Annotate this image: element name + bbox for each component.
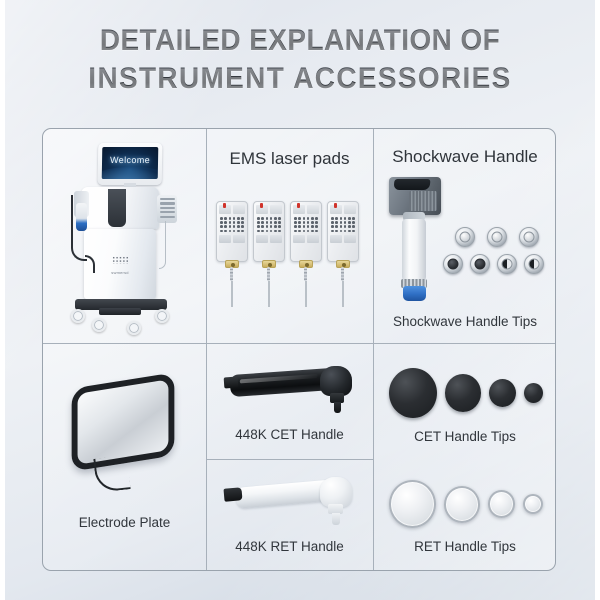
cell-shockwave-handle: Shockwave Handle bbox=[373, 129, 556, 343]
ems-pad-top-bar bbox=[330, 205, 356, 214]
cet-tip bbox=[524, 383, 543, 403]
ems-pad-cable-strain bbox=[304, 267, 307, 281]
shockwave-heading: Shockwave Handle bbox=[373, 147, 556, 167]
ems-pad-bottom-segment bbox=[307, 235, 319, 243]
ems-pad-laser-grid bbox=[293, 216, 319, 233]
ems-pad-bottom-segment bbox=[233, 235, 245, 243]
ret-handle-head bbox=[320, 477, 352, 507]
machine-caster bbox=[155, 309, 169, 323]
logo-dots-icon bbox=[112, 256, 129, 264]
machine-illustration: Welcome swmersd bbox=[69, 143, 181, 335]
ems-pad-top-segment bbox=[344, 205, 356, 214]
ems-pad-bottom-segment bbox=[256, 235, 268, 243]
shockwave-tip bbox=[524, 254, 544, 274]
cet-tip bbox=[445, 374, 481, 412]
screen-welcome-text: Welcome bbox=[102, 155, 158, 165]
ems-pad-wire bbox=[305, 281, 307, 307]
keypad-row bbox=[160, 202, 175, 204]
ems-pad-body bbox=[327, 201, 359, 262]
cet-handle-illustration bbox=[224, 361, 356, 419]
shockwave-tip bbox=[443, 254, 463, 274]
ret-tips-group bbox=[389, 477, 543, 531]
ems-pad-bottom-bar bbox=[330, 235, 356, 243]
ems-pad-body bbox=[216, 201, 248, 262]
machine-center-slot bbox=[108, 189, 126, 227]
ems-pad-bottom-segment bbox=[270, 235, 282, 243]
keypad-row bbox=[160, 207, 175, 209]
ems-pad-cable-strain bbox=[230, 267, 233, 281]
cell-ret-handle-tips: RET Handle Tips bbox=[373, 459, 556, 571]
ems-pad-indicator bbox=[330, 205, 342, 214]
ret-handle-nose bbox=[223, 487, 242, 502]
shockwave-tips-label: Shockwave Handle Tips bbox=[373, 314, 556, 329]
shockwave-tips-group bbox=[443, 227, 549, 297]
machine-caster bbox=[92, 318, 106, 332]
page-title: DETAILED EXPLANATION OF INSTRUMENT ACCES… bbox=[0, 22, 600, 98]
ems-pad-bottom-bar bbox=[219, 235, 245, 243]
machine-caster bbox=[71, 309, 85, 323]
cet-handle-nose bbox=[224, 377, 239, 389]
electrode-plate-cable bbox=[93, 455, 130, 492]
ret-tip bbox=[389, 480, 436, 528]
cet-tip bbox=[489, 379, 516, 407]
electrode-plate-illustration bbox=[63, 369, 187, 489]
ems-pad bbox=[290, 201, 322, 311]
shockwave-tip bbox=[470, 254, 490, 274]
shockwave-blue-tip bbox=[403, 286, 426, 301]
machine-screen: Welcome bbox=[102, 147, 159, 179]
shockwave-barrel bbox=[402, 219, 426, 281]
title-line-1: DETAILED EXPLANATION OF bbox=[21, 22, 579, 60]
ems-pad-wire bbox=[342, 281, 344, 307]
cell-ems-laser-pads: EMS laser pads bbox=[206, 129, 373, 343]
ret-tip bbox=[488, 490, 515, 518]
ems-pad-laser-grid bbox=[330, 216, 356, 233]
keypad-row bbox=[160, 211, 175, 213]
ret-tips-label: RET Handle Tips bbox=[373, 539, 556, 554]
ems-pad-laser-grid bbox=[219, 216, 245, 233]
ems-pad-top-segment bbox=[270, 205, 282, 214]
keypad-row bbox=[160, 216, 175, 218]
cet-tip bbox=[389, 368, 437, 418]
cet-tips-group bbox=[389, 365, 543, 421]
machine-base-mid bbox=[99, 308, 141, 315]
ems-pad-body bbox=[290, 201, 322, 262]
screen-wave-graphic bbox=[102, 167, 159, 179]
cet-handle-label: 448K CET Handle bbox=[206, 427, 373, 442]
infographic-page: DETAILED EXPLANATION OF INSTRUMENT ACCES… bbox=[0, 0, 600, 600]
ems-pad-bottom-segment bbox=[219, 235, 231, 243]
title-line-2: INSTRUMENT ACCESSORIES bbox=[21, 60, 579, 98]
ems-pad-indicator bbox=[293, 205, 305, 214]
machine-caster bbox=[127, 321, 141, 335]
electrode-plate-label: Electrode Plate bbox=[43, 515, 206, 530]
ems-pad-bottom-bar bbox=[256, 235, 282, 243]
cet-handle-pin bbox=[334, 402, 341, 413]
shockwave-tip bbox=[497, 254, 517, 274]
ems-pad-top-bar bbox=[256, 205, 282, 214]
ret-handle-label: 448K RET Handle bbox=[206, 539, 373, 554]
shockwave-tip bbox=[487, 227, 507, 247]
accessories-grid: Welcome swmersd bbox=[42, 128, 556, 571]
machine-screen-bezel: Welcome bbox=[98, 143, 163, 185]
cet-handle-head bbox=[320, 366, 352, 396]
ems-pad-top-segment bbox=[233, 205, 245, 214]
ems-pad-wire bbox=[268, 281, 270, 307]
ret-handle-pin bbox=[332, 513, 340, 525]
keypad-row bbox=[160, 198, 175, 200]
cell-electrode-plate: Electrode Plate bbox=[43, 343, 206, 571]
cet-tips-label: CET Handle Tips bbox=[373, 429, 556, 444]
ems-pad-top-bar bbox=[293, 205, 319, 214]
machine-hose bbox=[71, 195, 87, 261]
cell-cet-handle-tips: CET Handle Tips bbox=[373, 343, 556, 459]
ret-tip bbox=[444, 486, 480, 523]
ems-pads-heading: EMS laser pads bbox=[206, 149, 373, 169]
ems-pad-cable-strain bbox=[267, 267, 270, 281]
ems-pad-body bbox=[253, 201, 285, 262]
ems-pad-top-segment bbox=[307, 205, 319, 214]
ems-pad-bottom-segment bbox=[330, 235, 342, 243]
cell-ret-handle: 448K RET Handle bbox=[206, 459, 373, 571]
ems-pad bbox=[327, 201, 359, 311]
cell-cet-handle: 448K CET Handle bbox=[206, 343, 373, 459]
shockwave-handle-illustration bbox=[389, 177, 443, 302]
ems-pad-indicator bbox=[256, 205, 268, 214]
machine-panel-arm bbox=[159, 221, 166, 269]
ret-handle-illustration bbox=[224, 473, 356, 531]
ems-pad bbox=[253, 201, 285, 311]
shockwave-ribbed-grip bbox=[409, 191, 437, 211]
ems-pads-group bbox=[216, 201, 364, 311]
ems-pad-bottom-segment bbox=[293, 235, 305, 243]
ems-pad-top-bar bbox=[219, 205, 245, 214]
ems-pad-laser-grid bbox=[256, 216, 282, 233]
machine-keypad-panel bbox=[157, 195, 177, 223]
cell-main-machine: Welcome swmersd bbox=[43, 129, 206, 343]
ems-pad bbox=[216, 201, 248, 311]
ems-pad-bottom-bar bbox=[293, 235, 319, 243]
shockwave-tip bbox=[519, 227, 539, 247]
ems-pad-bottom-segment bbox=[344, 235, 356, 243]
ems-pad-cable-strain bbox=[341, 267, 344, 281]
shockwave-tips-row-top bbox=[455, 227, 549, 247]
ret-tip bbox=[523, 494, 543, 514]
ems-pad-wire bbox=[231, 281, 233, 307]
ems-pad-indicator bbox=[219, 205, 231, 214]
shockwave-tip bbox=[455, 227, 475, 247]
shockwave-tips-row-bottom bbox=[443, 254, 549, 274]
